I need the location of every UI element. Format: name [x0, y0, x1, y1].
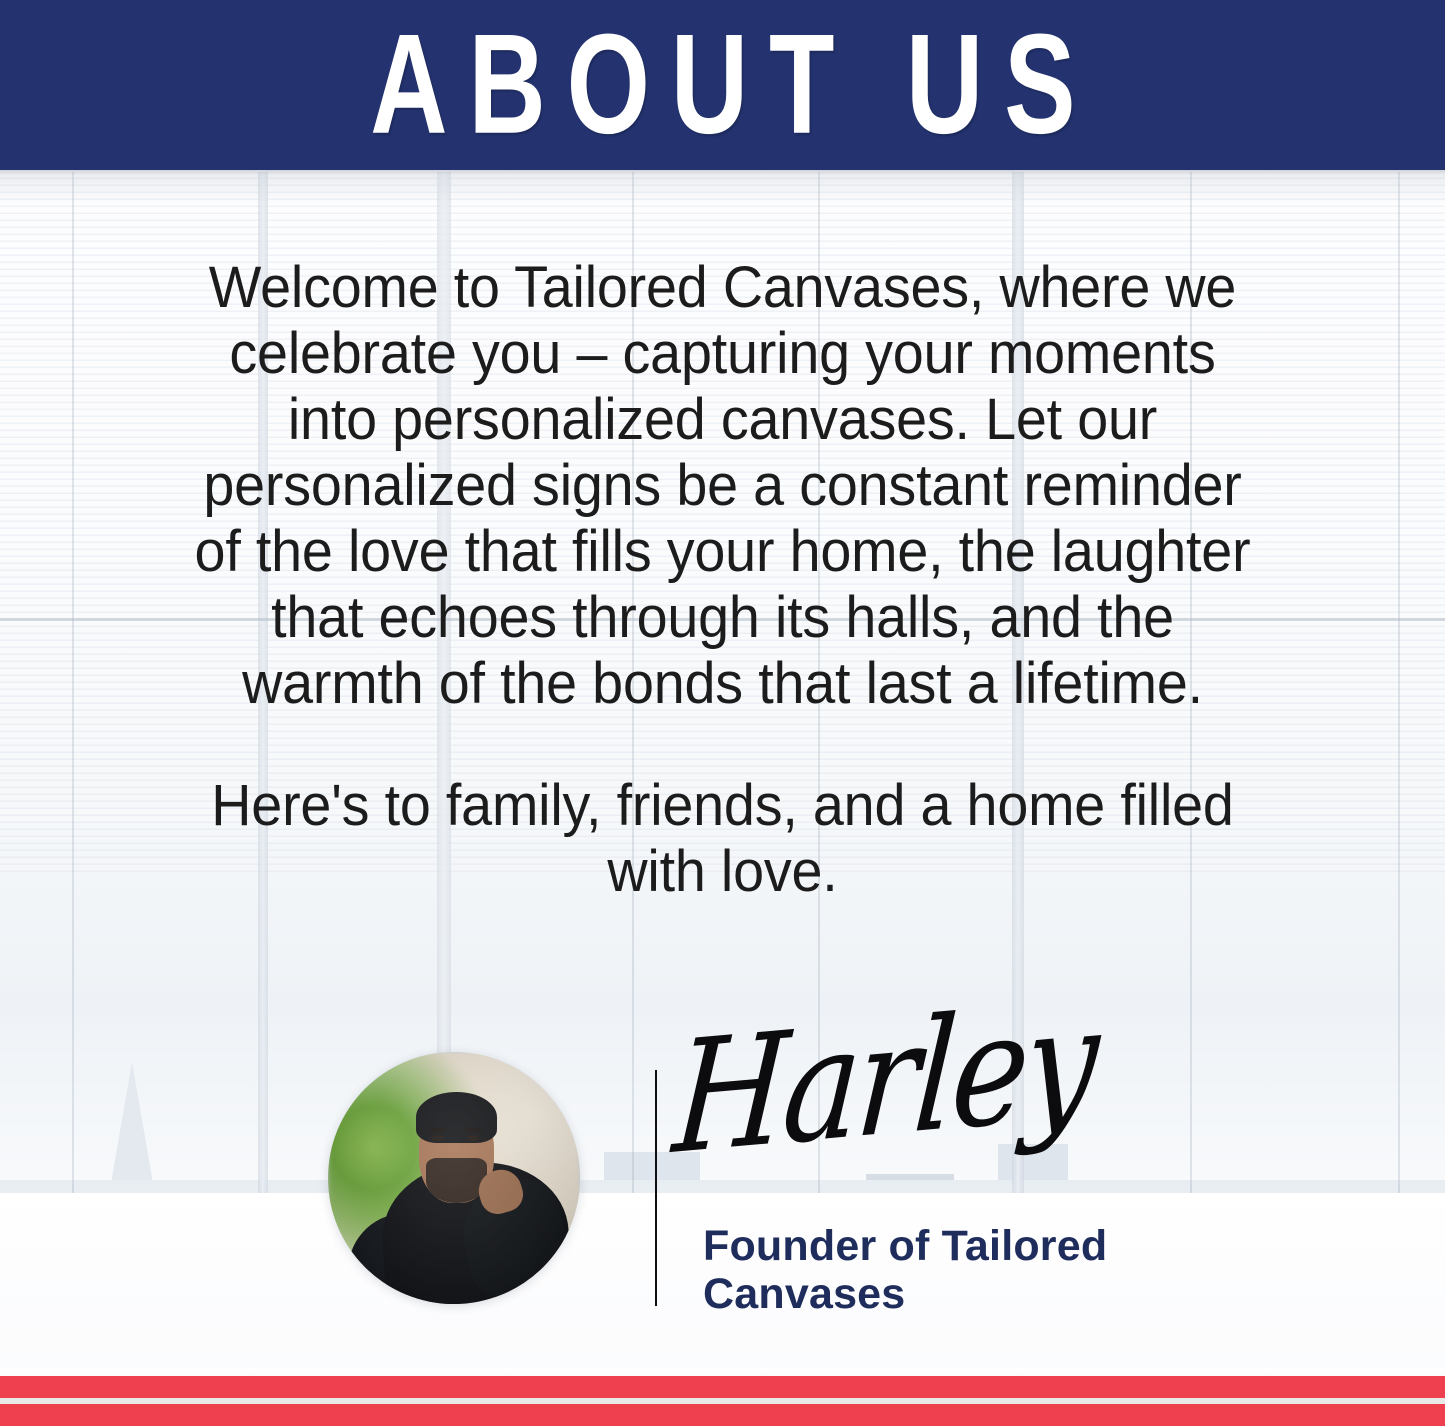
paragraph-welcome: Welcome to Tailored Canvases, where we c… [178, 255, 1268, 717]
signature-script: Harley [664, 984, 1099, 1259]
about-us-copy: Welcome to Tailored Canvases, where we c… [178, 255, 1268, 905]
banner-drop-shadow [0, 170, 1445, 204]
page-title: ABOUT US [349, 14, 1096, 156]
window-mullion [72, 172, 74, 1330]
signature-divider [655, 1070, 657, 1306]
footer-fade [0, 1368, 1445, 1376]
window-mullion [1398, 172, 1400, 1330]
header-banner: ABOUT US [0, 0, 1445, 170]
founder-role: Founder of Tailored Canvases [703, 1222, 1203, 1318]
footer-accent-bar-bottom [0, 1404, 1445, 1426]
about-us-card: ABOUT US Welcome to Tailored Canvases, w… [0, 0, 1445, 1426]
founder-photo [328, 1052, 580, 1304]
footer-accent-bar-top [0, 1376, 1445, 1398]
founder-role-line-1: Founder of Tailored [703, 1222, 1203, 1270]
paragraph-spacer [178, 717, 1268, 773]
founder-role-line-2: Canvases [703, 1270, 1203, 1318]
paragraph-closing: Here's to family, friends, and a home fi… [178, 773, 1268, 905]
avatar [328, 1052, 580, 1304]
